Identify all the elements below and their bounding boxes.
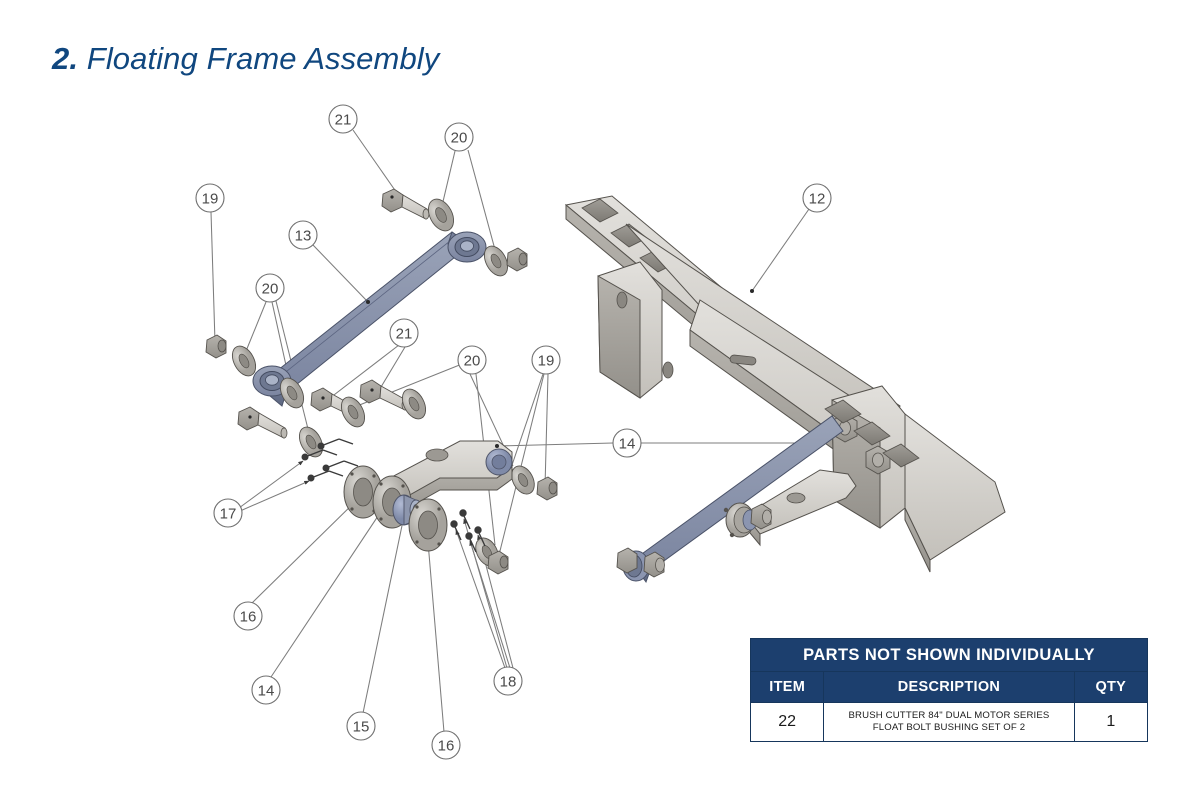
description-line-1: BRUSH CUTTER 84" DUAL MOTOR SERIES bbox=[824, 710, 1073, 722]
balloon-label: 21 bbox=[335, 112, 352, 129]
balloon-label: 17 bbox=[220, 506, 237, 523]
balloon-callout-12[interactable]: 12 bbox=[803, 184, 831, 212]
part-bolt-18-b bbox=[460, 510, 470, 529]
balloon-label: 20 bbox=[464, 353, 481, 370]
part-bolt-18-c bbox=[466, 533, 476, 552]
part-bolt-21-top bbox=[382, 189, 429, 219]
balloon-label: 13 bbox=[295, 228, 312, 245]
balloon-callout-18[interactable]: 18 bbox=[494, 667, 522, 695]
balloon-label: 12 bbox=[809, 191, 826, 208]
balloon-label: 19 bbox=[202, 191, 219, 208]
balloon-label: 18 bbox=[500, 674, 517, 691]
part-nut-19-c bbox=[537, 477, 557, 500]
balloon-callout-20[interactable]: 20 bbox=[256, 274, 284, 302]
balloon-label: 20 bbox=[451, 130, 468, 147]
part-flange-16-right bbox=[409, 499, 447, 551]
balloon-callout-20[interactable]: 20 bbox=[458, 346, 486, 374]
part-bolt-21-mid-a bbox=[238, 407, 287, 438]
balloon-label: 15 bbox=[353, 719, 370, 736]
parts-table-header-qty: QTY bbox=[1074, 672, 1147, 703]
part-bolt-17-b bbox=[323, 461, 358, 471]
parts-table-header-description: DESCRIPTION bbox=[824, 672, 1074, 703]
parts-table-cell-item: 22 bbox=[751, 703, 824, 742]
parts-table-cell-qty: 1 bbox=[1074, 703, 1147, 742]
part-nut-19-b bbox=[507, 248, 527, 271]
balloon-label: 16 bbox=[438, 738, 455, 755]
balloon-callouts: 21201913122021201914171614181516 bbox=[196, 105, 831, 759]
part-bolt-18-a bbox=[451, 521, 461, 540]
table-row: 22 BRUSH CUTTER 84" DUAL MOTOR SERIES FL… bbox=[751, 703, 1148, 742]
balloon-label: 14 bbox=[258, 683, 275, 700]
parts-table-cell-description: BRUSH CUTTER 84" DUAL MOTOR SERIES FLOAT… bbox=[824, 703, 1074, 742]
part-nut-19-a bbox=[206, 335, 226, 358]
balloon-label: 21 bbox=[396, 326, 413, 343]
balloon-callout-15[interactable]: 15 bbox=[347, 712, 375, 740]
balloon-callout-14[interactable]: 14 bbox=[613, 429, 641, 457]
balloon-callout-17[interactable]: 17 bbox=[214, 499, 242, 527]
parts-not-shown-table: PARTS NOT SHOWN INDIVIDUALLY ITEM DESCRI… bbox=[750, 638, 1148, 742]
description-line-2: FLOAT BOLT BUSHING SET OF 2 bbox=[824, 722, 1073, 734]
balloon-callout-19[interactable]: 19 bbox=[532, 346, 560, 374]
balloon-callout-21[interactable]: 21 bbox=[329, 105, 357, 133]
balloon-label: 20 bbox=[262, 281, 279, 298]
balloon-label: 16 bbox=[240, 609, 257, 626]
balloon-callout-20[interactable]: 20 bbox=[445, 123, 473, 151]
balloon-callout-16[interactable]: 16 bbox=[432, 731, 460, 759]
balloon-label: 19 bbox=[538, 353, 555, 370]
balloon-label: 14 bbox=[619, 436, 636, 453]
balloon-callout-14[interactable]: 14 bbox=[252, 676, 280, 704]
balloon-callout-21[interactable]: 21 bbox=[390, 319, 418, 347]
parts-table-header-item: ITEM bbox=[751, 672, 824, 703]
part-bolt-17-a bbox=[318, 439, 353, 449]
balloon-callout-13[interactable]: 13 bbox=[289, 221, 317, 249]
parts-diagram-page: 2. Floating Frame Assembly bbox=[0, 0, 1200, 800]
balloon-callout-19[interactable]: 19 bbox=[196, 184, 224, 212]
parts-table-title: PARTS NOT SHOWN INDIVIDUALLY bbox=[751, 639, 1148, 672]
balloon-callout-16[interactable]: 16 bbox=[234, 602, 262, 630]
part-grease-fitting-17-b bbox=[308, 471, 343, 481]
part-bolt-21-mid-c bbox=[360, 380, 408, 410]
